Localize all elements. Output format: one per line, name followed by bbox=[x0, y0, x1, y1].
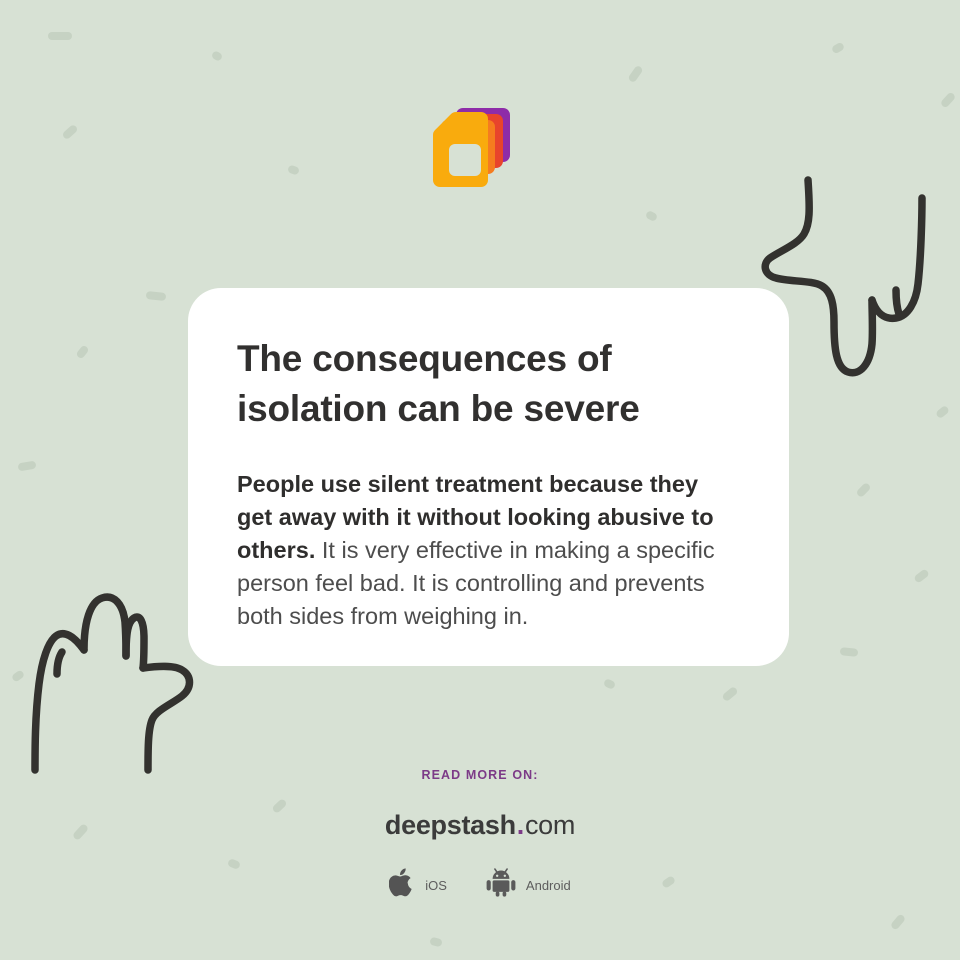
confetti-speck bbox=[603, 678, 616, 690]
logo-inner-cutout bbox=[449, 144, 481, 176]
wordmark-tld: com bbox=[525, 810, 575, 840]
confetti-speck bbox=[11, 669, 25, 683]
ios-store-badge[interactable]: iOS bbox=[389, 867, 447, 903]
card-title: The consequences of isolation can be sev… bbox=[237, 334, 739, 434]
android-store-badge[interactable]: Android bbox=[485, 868, 571, 902]
confetti-speck bbox=[48, 32, 72, 40]
confetti-speck bbox=[75, 344, 89, 359]
android-icon bbox=[485, 868, 517, 902]
android-label: Android bbox=[526, 878, 571, 893]
confetti-speck bbox=[935, 405, 950, 419]
confetti-speck bbox=[831, 42, 845, 55]
confetti-speck bbox=[287, 164, 300, 175]
confetti-speck bbox=[721, 686, 738, 702]
idea-card: The consequences of isolation can be sev… bbox=[188, 288, 789, 666]
read-more-label: READ MORE ON: bbox=[0, 768, 960, 782]
confetti-speck bbox=[146, 291, 167, 301]
confetti-speck bbox=[855, 482, 871, 498]
store-badges: iOS bbox=[0, 867, 960, 903]
confetti-speck bbox=[890, 913, 906, 930]
wordmark-dot: . bbox=[516, 810, 525, 840]
confetti-speck bbox=[61, 124, 78, 141]
footer: READ MORE ON: deepstash.com iOS bbox=[0, 768, 960, 903]
confetti-speck bbox=[17, 460, 36, 471]
ios-label: iOS bbox=[425, 878, 447, 893]
confetti-speck bbox=[627, 65, 643, 84]
confetti-speck bbox=[429, 937, 443, 948]
poster-canvas: The consequences of isolation can be sev… bbox=[0, 0, 960, 960]
confetti-speck bbox=[211, 50, 224, 62]
deepstash-wordmark[interactable]: deepstash.com bbox=[0, 810, 960, 841]
card-body: People use silent treatment because they… bbox=[237, 468, 739, 633]
pointing-hand-illustration-bottom-left bbox=[22, 560, 207, 780]
confetti-speck bbox=[940, 91, 957, 108]
wordmark-brand: deepstash bbox=[385, 810, 516, 840]
apple-icon bbox=[389, 867, 416, 903]
confetti-speck bbox=[913, 568, 930, 584]
confetti-speck bbox=[645, 210, 658, 222]
confetti-speck bbox=[840, 647, 859, 657]
deepstash-logo bbox=[424, 100, 520, 196]
